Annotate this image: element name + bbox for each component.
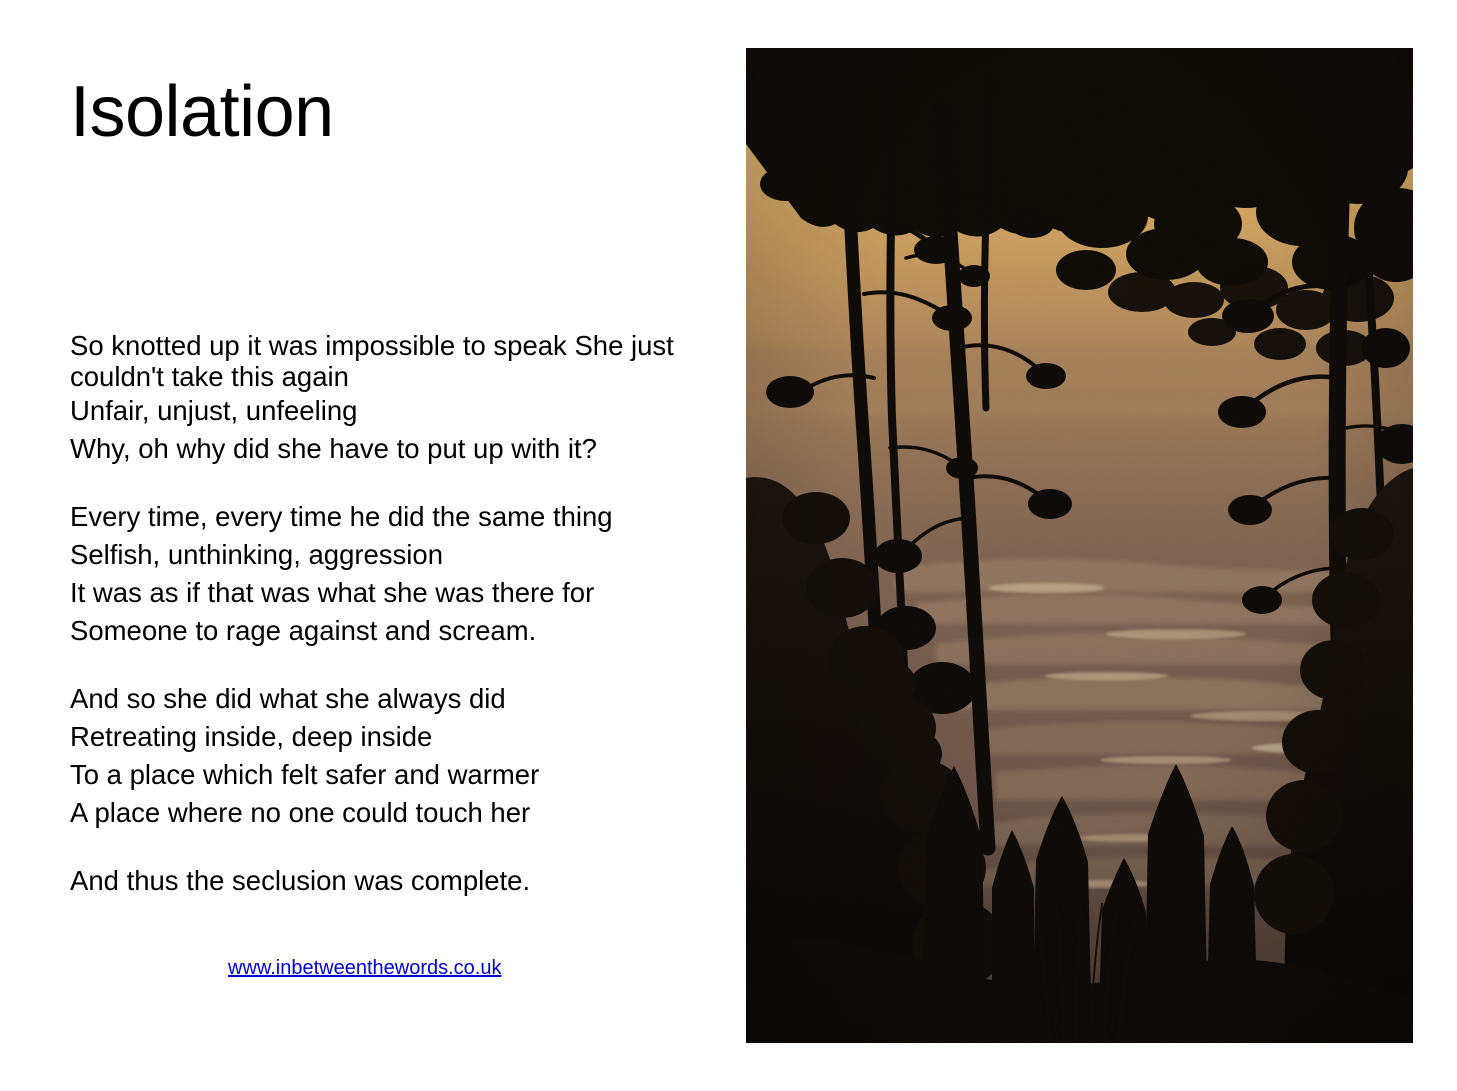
poem-line: To a place which felt safer and warmer (70, 756, 730, 794)
poem-line: Someone to rage against and scream. (70, 612, 730, 650)
poem-line: Every time, every time he did the same t… (70, 498, 730, 536)
poem-line: A place where no one could touch her (70, 794, 730, 832)
text-column: Isolation So knotted up it was impossibl… (0, 0, 735, 1091)
photo-artwork (746, 48, 1413, 1043)
stanza-4: And thus the seclusion was complete. (70, 862, 730, 900)
poem-line: And thus the seclusion was complete. (70, 862, 730, 900)
poem-line: Unfair, unjust, unfeeling (70, 392, 730, 430)
stanza-2: Every time, every time he did the same t… (70, 498, 730, 650)
film-grain-overlay (746, 48, 1413, 1043)
poem-line: Selfish, unthinking, aggression (70, 536, 730, 574)
stanza-3: And so she did what she always did Retre… (70, 680, 730, 832)
poem-line: Retreating inside, deep inside (70, 718, 730, 756)
poem-body: So knotted up it was impossible to speak… (70, 330, 730, 900)
poem-line: Why, oh why did she have to put up with … (70, 430, 730, 468)
poem-line: It was as if that was what she was there… (70, 574, 730, 612)
poem-line: And so she did what she always did (70, 680, 730, 718)
poem-line: So knotted up it was impossible to speak… (70, 330, 730, 392)
site-link-container: www.inbetweenthewords.co.uk (70, 955, 730, 981)
stanza-1: So knotted up it was impossible to speak… (70, 330, 730, 468)
sunset-seascape-photo (746, 48, 1413, 1043)
page-title: Isolation (70, 74, 334, 152)
website-link[interactable]: www.inbetweenthewords.co.uk (228, 955, 501, 981)
